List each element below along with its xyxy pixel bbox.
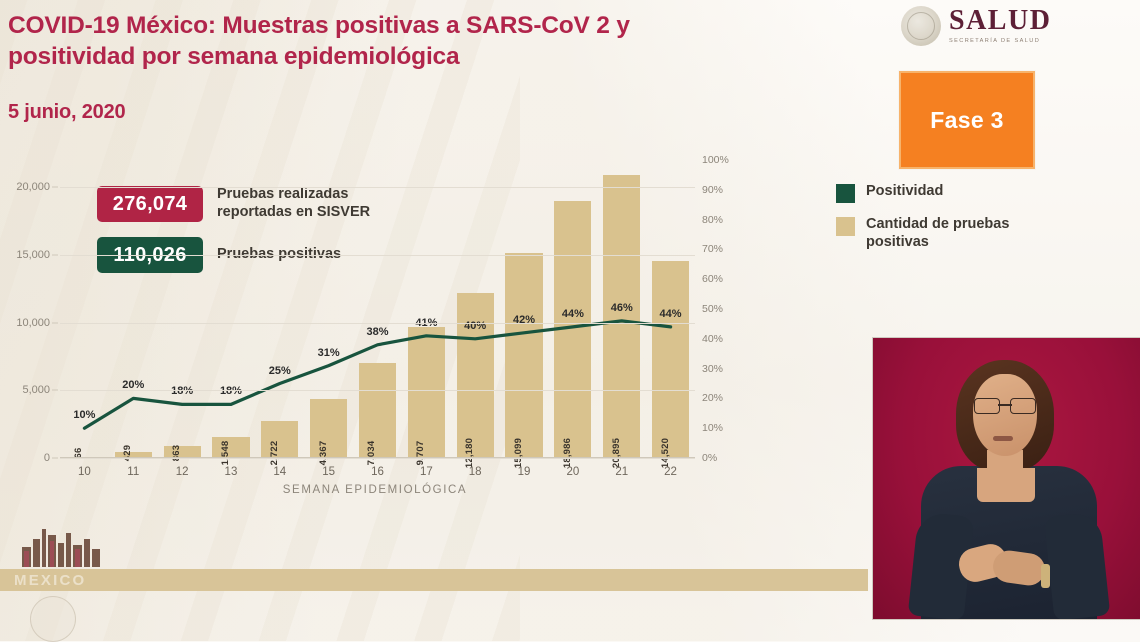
phase-badge: Fase 3 xyxy=(899,71,1035,169)
x-axis-tick-label: 11 xyxy=(127,466,139,478)
footer-brand: MEXICO xyxy=(14,572,86,589)
footer-bar xyxy=(0,569,868,591)
secondary-y-axis-tick-label: 0% xyxy=(702,452,717,464)
x-axis-tick-label: 10 xyxy=(78,466,91,478)
gridline xyxy=(60,458,695,459)
secondary-y-axis-tick-label: 100% xyxy=(702,154,729,166)
secondary-y-axis-tick-label: 10% xyxy=(702,422,723,434)
gridline xyxy=(60,255,695,256)
interpreter-watch xyxy=(1041,564,1050,588)
y-axis-tick-label: 5,000 xyxy=(22,384,50,396)
page-title: COVID-19 México: Muestras positivas a SA… xyxy=(8,10,728,73)
interpreter-mouth xyxy=(993,436,1013,441)
x-axis-tick-label: 22 xyxy=(664,466,677,478)
legend-item-positividad: Positividad xyxy=(836,183,1031,203)
page-date: 5 junio, 2020 xyxy=(8,101,125,124)
secondary-y-axis-tick-label: 20% xyxy=(702,392,723,404)
mexico-eagle-seal-icon xyxy=(901,6,941,46)
secondary-y-axis-tick-label: 30% xyxy=(702,363,723,375)
x-axis-tick-label: 18 xyxy=(469,466,482,478)
y-axis-tick xyxy=(52,458,58,459)
legend-label-positividad: Positividad xyxy=(866,183,943,201)
gridline xyxy=(60,323,695,324)
x-axis-tick-label: 20 xyxy=(566,466,579,478)
salud-wordmark: SALUD xyxy=(949,7,1051,35)
secondary-y-axis-tick-label: 40% xyxy=(702,333,723,345)
gridline xyxy=(60,187,695,188)
y-axis-tick xyxy=(52,322,58,323)
x-axis-tick-label: 19 xyxy=(518,466,531,478)
secondary-y-axis-tick-label: 70% xyxy=(702,243,723,255)
y-axis-tick-label: 10,000 xyxy=(16,317,50,329)
x-axis-tick-label: 16 xyxy=(371,466,384,478)
interpreter-collar xyxy=(977,468,1035,502)
y-axis-tick-label: 15,000 xyxy=(16,249,50,261)
positivity-line-path xyxy=(84,321,670,428)
government-seal-icon xyxy=(30,596,76,642)
y-axis-tick xyxy=(52,390,58,391)
y-axis-tick-label: 20,000 xyxy=(16,181,50,193)
y-axis-tick-label: 0 xyxy=(44,452,50,464)
left-axis: 05,00010,00015,00020,000 xyxy=(0,150,60,458)
salud-subtitle: SECRETARÍA DE SALUD xyxy=(949,39,1051,45)
legend-label-cantidad: Cantidad de pruebas positivas xyxy=(866,216,1031,251)
y-axis-tick xyxy=(52,187,58,188)
secondary-y-axis-tick-label: 60% xyxy=(702,273,723,285)
x-axis-tick-label: 21 xyxy=(615,466,628,478)
sign-language-interpreter-video[interactable] xyxy=(872,337,1140,620)
x-axis-tick-label: 14 xyxy=(273,466,286,478)
legend-item-cantidad: Cantidad de pruebas positivas xyxy=(836,216,1031,251)
x-axis-tick-label: 17 xyxy=(420,466,433,478)
x-axis-tick-label: 13 xyxy=(225,466,238,478)
chart-legend: Positividad Cantidad de pruebas positiva… xyxy=(836,183,1031,264)
x-axis-tick-label: 15 xyxy=(322,466,335,478)
right-axis: 0%10%20%30%40%50%60%70%80%90%100% xyxy=(695,150,760,458)
plot-area: 6610%1042920%1186318%121,54818%132,72225… xyxy=(60,160,695,458)
x-axis-tick-label: 12 xyxy=(176,466,189,478)
epidemiological-chart: 05,00010,00015,00020,000 0%10%20%30%40%5… xyxy=(0,150,760,500)
secondary-y-axis-tick-label: 50% xyxy=(702,303,723,315)
positivity-line xyxy=(60,160,695,458)
y-axis-tick xyxy=(52,254,58,255)
interpreter-face xyxy=(973,374,1037,456)
gridline xyxy=(60,390,695,391)
mexico-cityscape-icon xyxy=(18,521,104,567)
legend-swatch-cantidad xyxy=(836,217,855,236)
interpreter-glasses-icon xyxy=(974,398,1036,412)
x-axis-title: SEMANA EPIDEMIOLÓGICA xyxy=(283,484,467,496)
secondary-y-axis-tick-label: 90% xyxy=(702,184,723,196)
legend-swatch-positividad xyxy=(836,184,855,203)
secondary-y-axis-tick-label: 80% xyxy=(702,214,723,226)
salud-logo: SALUD SECRETARÍA DE SALUD xyxy=(901,6,1051,46)
